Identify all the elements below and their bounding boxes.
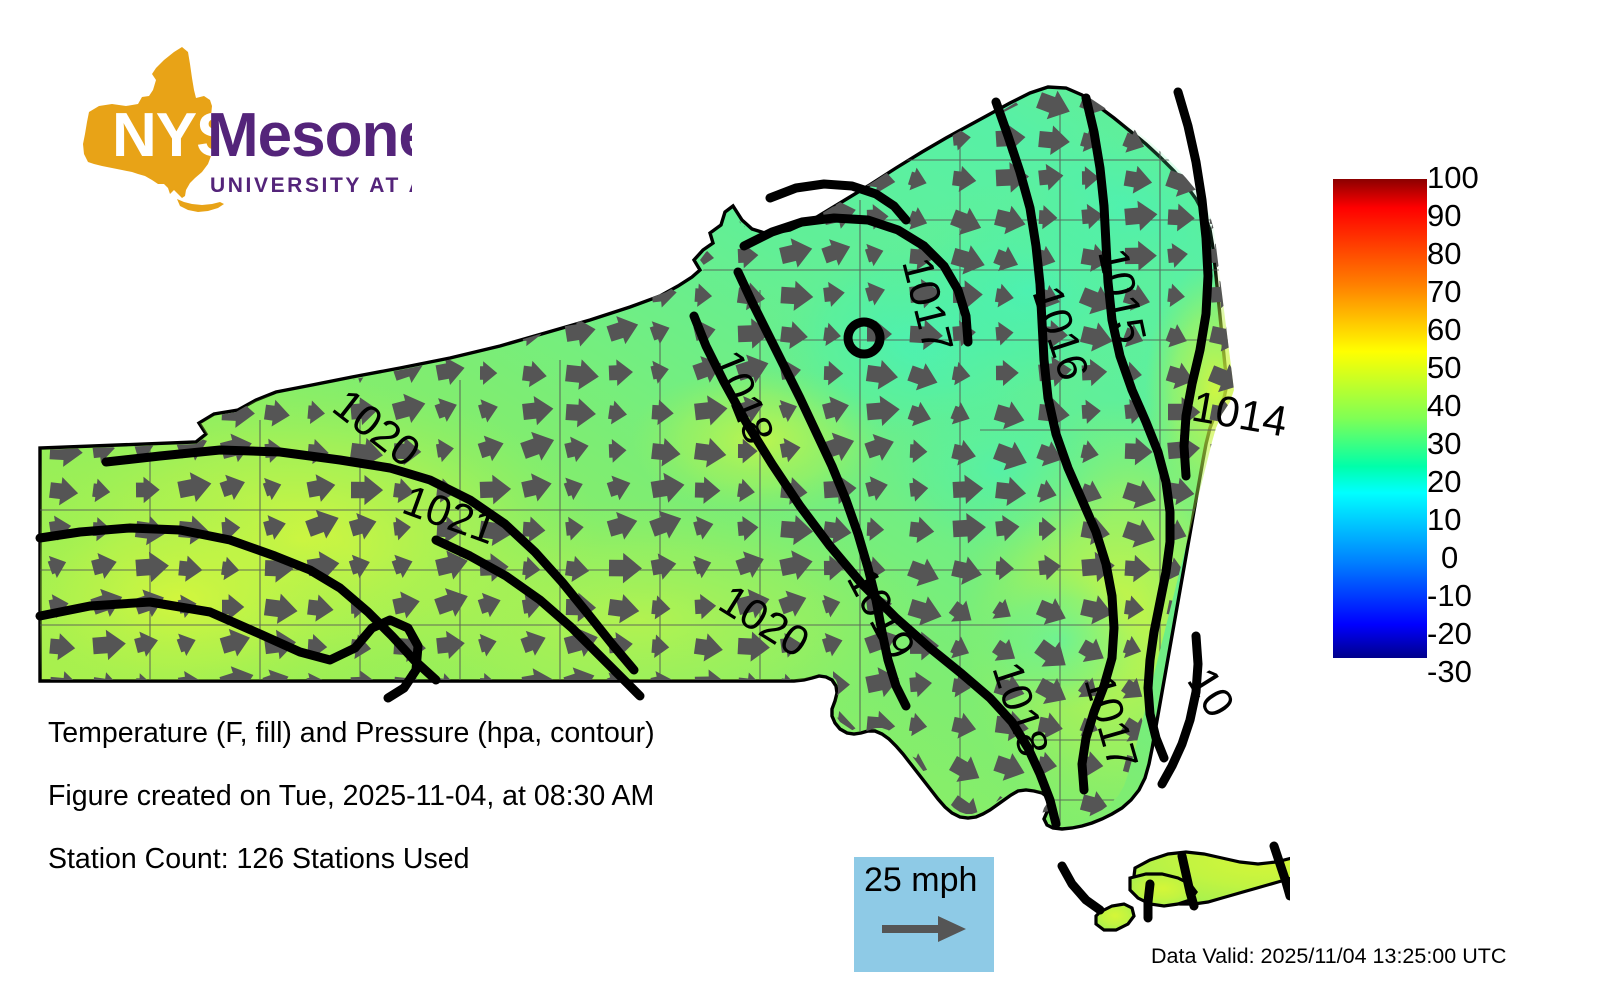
wind-arrow [178, 361, 198, 387]
colorbar-tick: 40 [1427, 390, 1461, 421]
wind-arrow [390, 157, 424, 192]
wind-arrow [1250, 361, 1278, 392]
wind-arrow [523, 124, 554, 154]
wind-arrow [394, 123, 427, 154]
wind-arrow [735, 161, 761, 190]
wind-arrow [475, 231, 516, 271]
wind-arrow [392, 283, 415, 310]
wind-arrow [821, 824, 847, 854]
colorbar-tick: -30 [1427, 656, 1472, 687]
wind-arrow [1160, 908, 1198, 940]
wind-arrow [738, 125, 765, 153]
colorbar-tick: 60 [1427, 314, 1461, 345]
wind-arrow [1251, 634, 1278, 664]
wind-arrow [176, 276, 205, 307]
wind-arrow [135, 278, 170, 310]
wind-arrow [1246, 752, 1283, 789]
wind-arrow [1253, 474, 1281, 504]
wind-arrow [781, 88, 802, 113]
data-valid-timestamp: Data Valid: 2025/11/04 13:25:00 UTC [1151, 944, 1506, 969]
wind-arrow [349, 198, 385, 232]
wind-arrow [436, 280, 470, 312]
wind-arrow [306, 276, 342, 310]
wind-arrow [1211, 478, 1229, 502]
wind-arrow [1031, 831, 1064, 865]
wind-arrow [1249, 204, 1282, 238]
warm-region-southtier [340, 500, 940, 740]
wind-arrow [91, 125, 123, 157]
wind-arrow [303, 312, 337, 347]
wind-arrow [522, 201, 553, 232]
wind-arrow [478, 86, 498, 112]
wind-arrow [993, 868, 1016, 896]
wind-arrow [135, 906, 160, 934]
wind-arrow [822, 907, 844, 934]
wind-arrow [562, 275, 593, 308]
wind-arrow [1252, 277, 1288, 311]
wind-arrow [48, 87, 77, 117]
wind-arrow [50, 243, 72, 269]
wind-arrow [690, 153, 730, 192]
colorbar-tick: 100 [1427, 162, 1479, 193]
wind-arrow [49, 320, 70, 346]
wind-arrow [479, 127, 500, 153]
colorbar-tick: 30 [1427, 428, 1461, 459]
wind-arrow [1208, 206, 1230, 233]
temperature-colorbar [1333, 179, 1427, 658]
wind-arrow [1252, 241, 1287, 274]
wind-arrow [436, 86, 465, 116]
wind-arrow [219, 118, 257, 154]
colorbar-tick: 10 [1427, 504, 1461, 535]
wind-arrow [1254, 320, 1283, 349]
wind-arrow [561, 74, 602, 114]
caption-title: Temperature (F, fill) and Pressure (hpa,… [48, 718, 808, 748]
wind-arrow [45, 153, 86, 192]
wind-arrow [179, 126, 202, 152]
wind-arrow [1204, 753, 1231, 782]
wind-arrow [89, 200, 113, 228]
wind-arrow [652, 202, 686, 233]
wind-arrow [609, 242, 639, 271]
wind-legend-label: 25 mph [864, 861, 977, 900]
wind-arrow [436, 319, 471, 352]
wind-arrow [1247, 595, 1286, 634]
wind-arrow [565, 205, 585, 230]
wind-arrow [92, 319, 125, 351]
colorbar-tick-labels: 100 90 80 70 60 50 40 30 20 10 0 -10 -20… [1427, 162, 1547, 682]
wind-arrow [306, 241, 342, 275]
wind-arrow [994, 906, 1021, 935]
wind-arrow [1208, 517, 1233, 546]
colorbar-tick: 50 [1427, 352, 1461, 383]
colorbar-tick: -20 [1427, 618, 1472, 649]
wind-arrow [350, 283, 371, 309]
wind-arrow [1252, 673, 1272, 699]
wind-arrow [564, 241, 586, 268]
wind-arrow [435, 126, 459, 154]
wind-arrow [566, 904, 599, 935]
wind-arrow [1209, 631, 1246, 666]
wind-arrow [263, 205, 283, 231]
wind-arrow [178, 199, 214, 232]
wind-arrow [736, 85, 772, 119]
weather-map-figure: NYS Mesonet UNIVERSITY AT ALBANY [0, 0, 1600, 1000]
wind-arrow [304, 122, 328, 150]
wind-arrow [349, 242, 379, 273]
wind-arrow [265, 358, 297, 388]
wind-arrow [605, 122, 630, 151]
wind-arrow [134, 127, 155, 153]
wind-arrow [909, 825, 941, 856]
wind-arrow [261, 77, 299, 114]
colorbar-tick: -10 [1427, 580, 1472, 611]
wind-arrow [862, 76, 901, 114]
wind-arrow [1166, 790, 1190, 818]
wind-arrow [865, 787, 886, 813]
wind-arrow [823, 125, 851, 155]
wind-arrow [1210, 437, 1232, 464]
wind-arrow [91, 162, 117, 191]
wind-arrow [49, 123, 81, 154]
wind-arrow [781, 907, 801, 932]
colorbar-tick: 20 [1427, 466, 1461, 497]
wind-arrow [819, 780, 854, 815]
wind-arrow [1250, 713, 1277, 743]
wind-arrow [348, 318, 370, 345]
wind-arrow [220, 318, 245, 346]
wind-arrow [435, 164, 455, 190]
wind-arrow [1205, 593, 1246, 633]
wind-arrow [1120, 828, 1154, 863]
wind-arrow [90, 351, 129, 388]
wind-legend-arrow-icon [880, 912, 970, 951]
contour-li-d [1062, 866, 1100, 910]
wind-arrow [521, 163, 558, 198]
wind-arrow [307, 203, 336, 232]
wind-arrow [1249, 554, 1290, 594]
wind-arrow [824, 868, 842, 892]
wind-arrow [136, 166, 155, 190]
wind-arrow [479, 907, 499, 932]
wind-arrow [823, 746, 857, 778]
wind-arrow [479, 165, 505, 193]
wind-arrow [1036, 904, 1074, 940]
wind-arrow [390, 199, 417, 229]
wind-arrow [305, 161, 331, 190]
wind-arrow [393, 319, 421, 348]
wind-arrow [866, 122, 900, 154]
wind-arrow [265, 243, 287, 269]
wind-arrow [132, 395, 156, 423]
wind-arrow [1206, 166, 1234, 197]
colorbar-tick: 0 [1441, 542, 1458, 573]
wind-arrow [174, 232, 212, 270]
wind-arrow [651, 87, 669, 111]
wind-arrow [220, 240, 243, 267]
wind-arrow [1210, 82, 1245, 115]
wind-arrow [822, 85, 845, 112]
wind-arrow [694, 86, 725, 117]
wind-arrow [178, 322, 197, 347]
wind-arrow [1251, 166, 1276, 195]
wind-arrow [1074, 828, 1118, 871]
wind-arrow [866, 750, 890, 777]
wind-arrow [650, 241, 685, 274]
wind-arrow [222, 905, 252, 934]
wind-arrow [606, 81, 636, 113]
colorbar-tick: 80 [1427, 238, 1461, 269]
wind-arrow [221, 163, 255, 195]
contour-li-c [1148, 884, 1150, 918]
wind-arrow [648, 120, 677, 151]
wind-arrow [46, 195, 81, 230]
wind-arrow [692, 118, 729, 154]
wind-arrow [221, 204, 248, 233]
wind-arrow [1203, 906, 1247, 940]
wind-arrow [346, 153, 387, 192]
wind-arrow [1253, 514, 1287, 546]
wind-arrow [519, 237, 549, 269]
wind-arrow [134, 320, 167, 353]
wind-arrow [177, 396, 203, 425]
wind-arrow [392, 85, 428, 119]
wind-arrow [565, 165, 590, 193]
wind-arrow [520, 279, 543, 306]
wind-arrow [46, 352, 79, 386]
wind-arrow [521, 906, 548, 935]
wind-arrow [779, 127, 799, 153]
wind-arrow [909, 83, 941, 114]
figure-caption: Temperature (F, fill) and Pressure (hpa,… [48, 718, 808, 907]
wind-arrow [261, 118, 294, 152]
wind-arrow [261, 273, 297, 309]
wind-arrow [434, 237, 464, 269]
wind-arrow [1206, 555, 1240, 590]
wind-arrow [92, 282, 119, 311]
wind-arrow [1209, 827, 1239, 858]
wind-arrow [177, 164, 210, 197]
wind-arrow [607, 204, 633, 233]
wind-arrow [136, 360, 159, 386]
wind-arrow [476, 195, 513, 231]
wind-arrow [92, 85, 127, 118]
wind-arrow [563, 118, 599, 153]
wind-arrow [46, 390, 84, 426]
wind-arrow [348, 120, 380, 153]
wind-arrow [261, 310, 301, 349]
wind-arrow [1207, 790, 1234, 820]
wind-arrow [131, 232, 169, 269]
wind-arrow [264, 165, 284, 190]
wind-arrow [953, 88, 971, 112]
caption-station-count: Station Count: 126 Stations Used [48, 844, 808, 874]
caption-created: Figure created on Tue, 2025-11-04, at 08… [48, 781, 808, 811]
wind-arrow [217, 77, 254, 114]
wind-scale-legend: 25 mph [854, 857, 994, 972]
wind-arrow [307, 86, 328, 112]
wind-arrow [1254, 127, 1271, 151]
wind-arrow [133, 198, 163, 230]
wind-arrow [135, 84, 161, 112]
wind-arrow [1209, 125, 1241, 157]
wind-arrow [48, 283, 68, 309]
wind-arrow [1249, 908, 1279, 940]
wind-arrow [479, 278, 510, 309]
wind-arrow [1289, 790, 1290, 830]
wind-arrow [1247, 789, 1289, 831]
wind-arrow [177, 907, 198, 933]
colorbar-tick: 90 [1427, 200, 1461, 231]
colorbar-tick: 70 [1427, 276, 1461, 307]
wind-arrow [863, 823, 889, 852]
wind-arrow [519, 80, 550, 112]
wind-arrow [437, 904, 466, 933]
wind-arrow [220, 359, 252, 391]
wind-arrow [394, 244, 411, 268]
wind-arrow [648, 157, 683, 192]
wind-arrow [1122, 89, 1144, 116]
wind-arrow [350, 88, 372, 114]
wind-arrow [176, 84, 200, 112]
wind-arrow [218, 278, 242, 306]
wind-arrow [88, 389, 125, 426]
wind-arrow [433, 199, 459, 228]
wind-arrow [608, 165, 628, 190]
wind-arrow [1253, 86, 1276, 113]
wind-arrow [91, 241, 113, 268]
